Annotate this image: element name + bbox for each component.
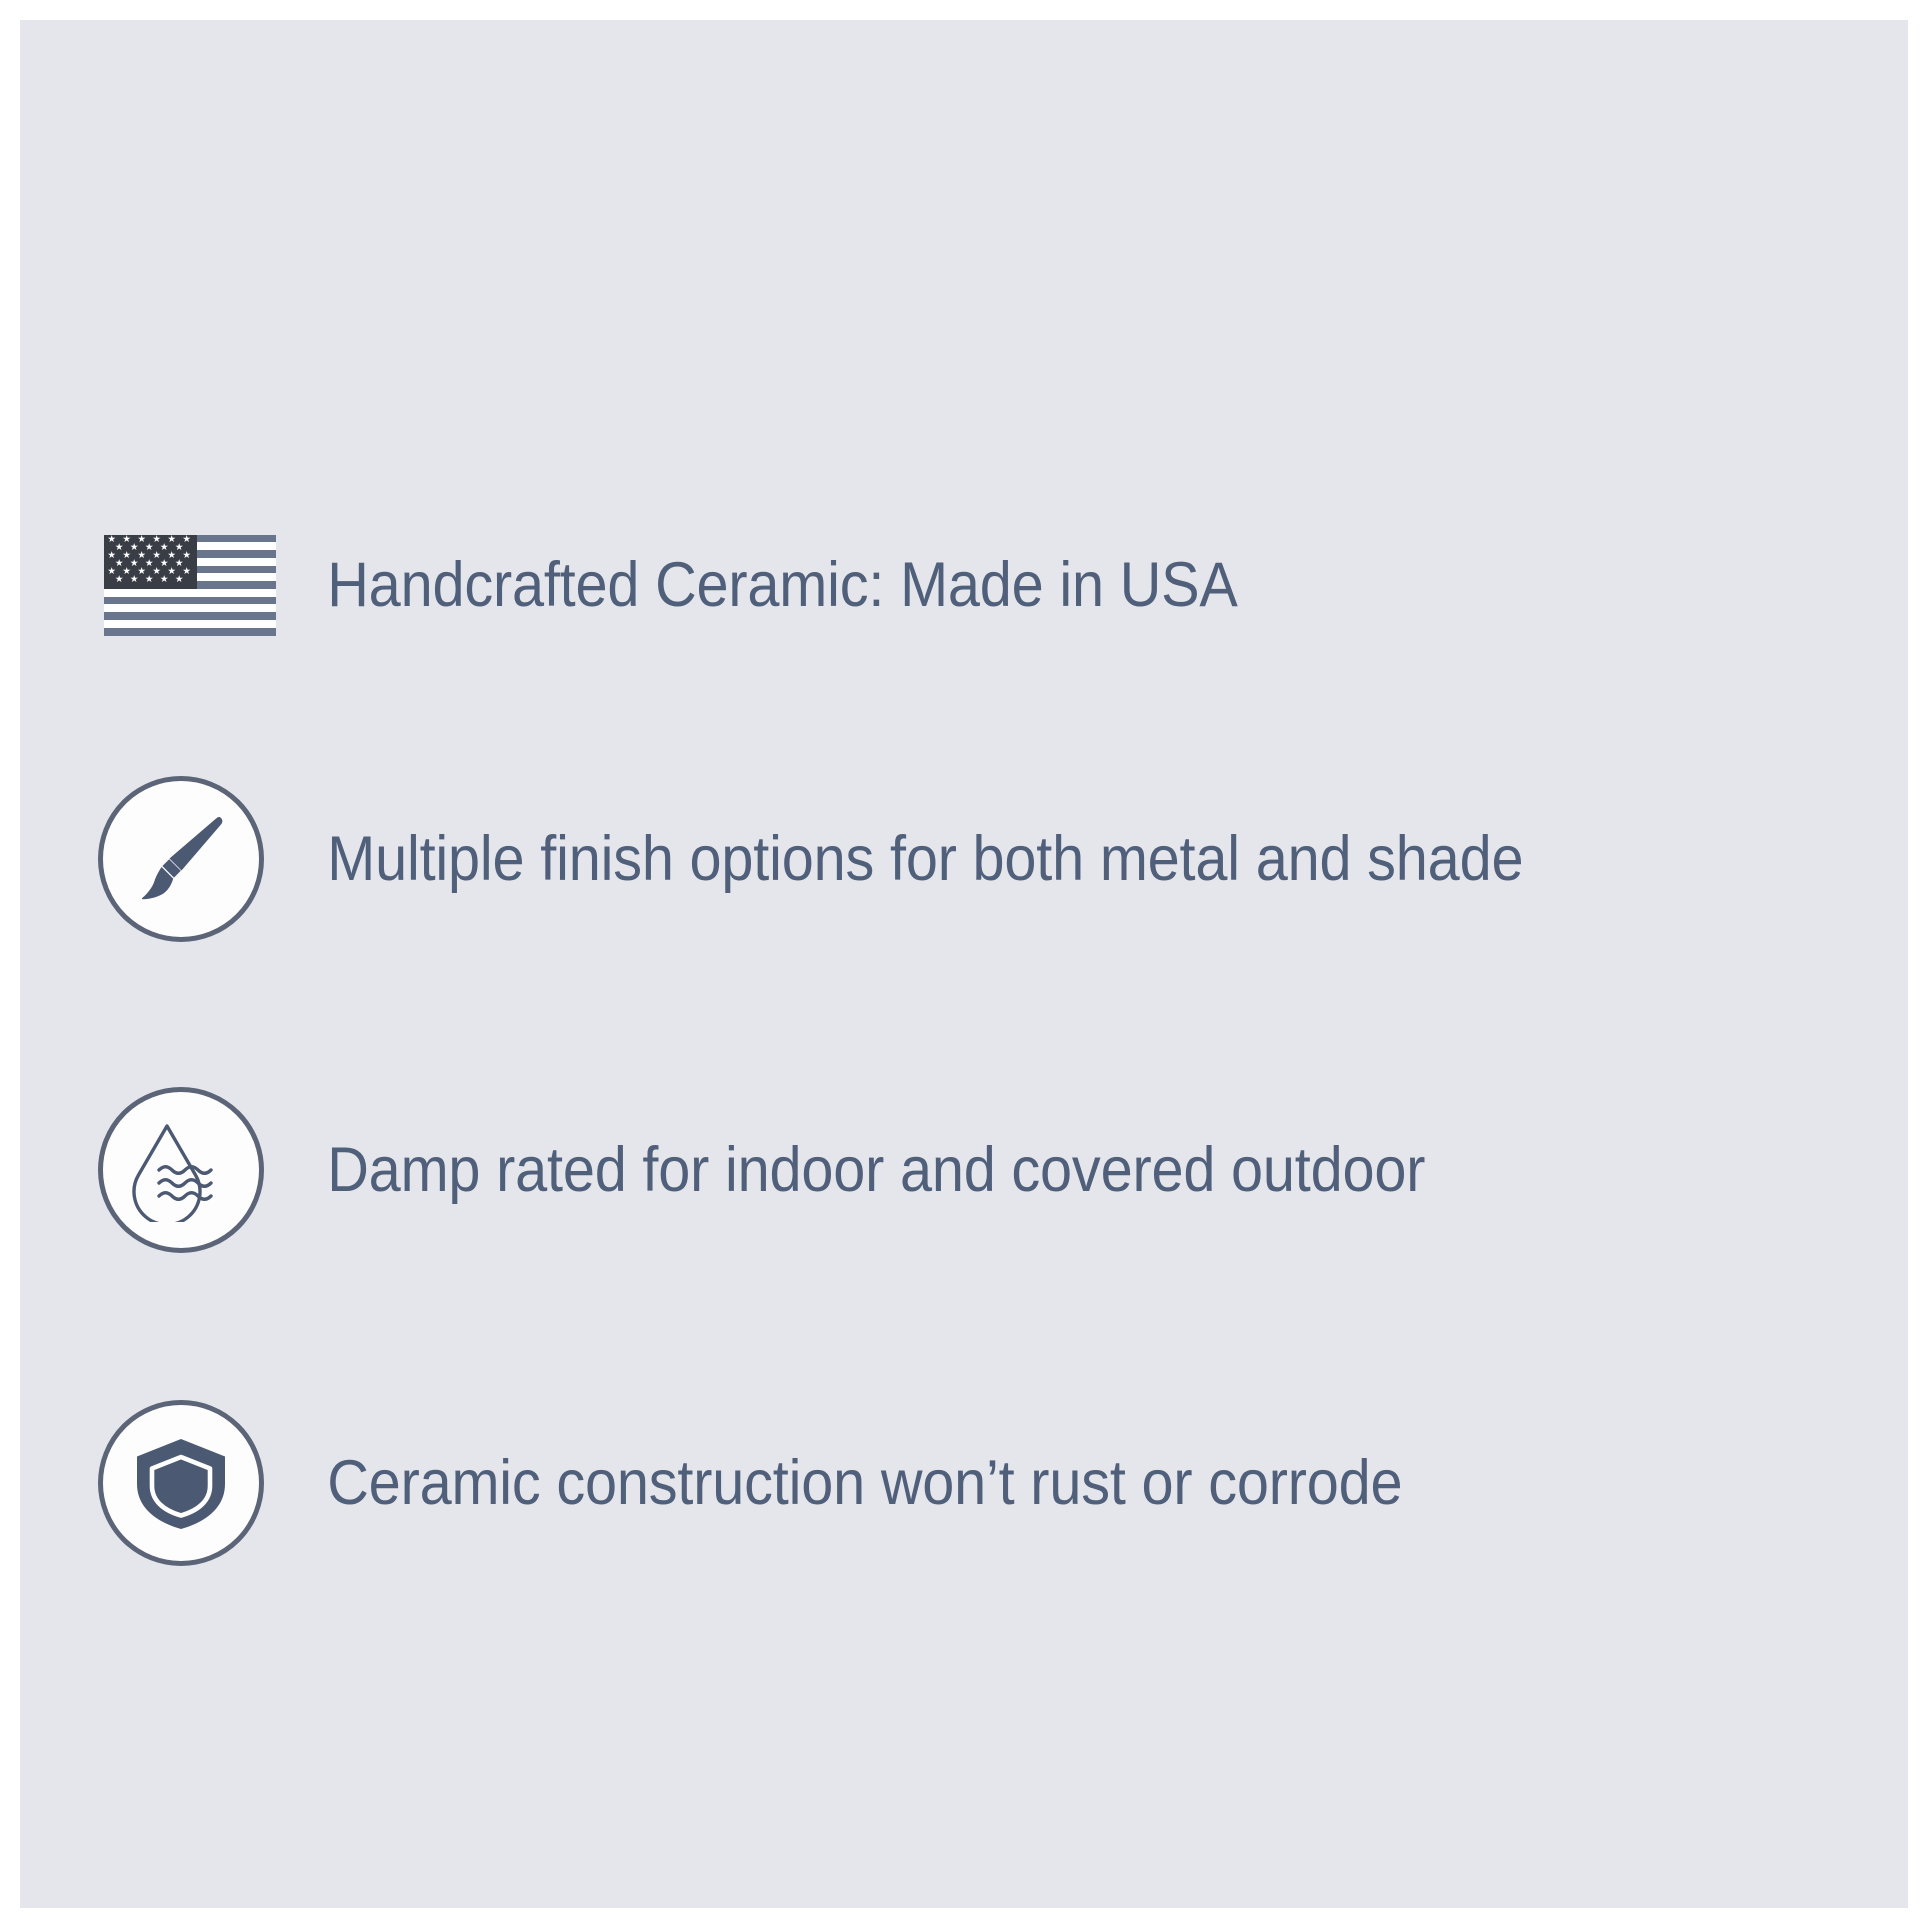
feature-row: Handcrafted Ceramic: Made in USA	[86, 515, 1876, 655]
feature-icon-slot	[86, 1390, 276, 1576]
us-flag-canton	[104, 535, 197, 589]
feature-list: Handcrafted Ceramic: Made in USA	[20, 20, 1908, 1908]
feature-row: Ceramic construction won’t rust or corro…	[86, 1390, 1876, 1576]
feature-label: Multiple finish options for both metal a…	[276, 826, 1740, 893]
us-flag-icon	[104, 535, 276, 636]
water-droplet-waves-icon-badge	[98, 1087, 264, 1253]
feature-label: Handcrafted Ceramic: Made in USA	[276, 552, 1740, 619]
shield-icon-badge	[98, 1400, 264, 1566]
feature-row: Multiple finish options for both metal a…	[86, 766, 1876, 952]
paintbrush-icon	[129, 807, 233, 911]
feature-label: Ceramic construction won’t rust or corro…	[276, 1450, 1740, 1517]
product-feature-graphic: Handcrafted Ceramic: Made in USA	[0, 0, 1928, 1928]
paintbrush-icon-badge	[98, 776, 264, 942]
feature-panel: Handcrafted Ceramic: Made in USA	[20, 20, 1908, 1908]
feature-label: Damp rated for indoor and covered outdoo…	[276, 1137, 1740, 1204]
feature-icon-slot	[86, 1077, 276, 1263]
feature-icon-slot	[86, 766, 276, 952]
feature-row: Damp rated for indoor and covered outdoo…	[86, 1077, 1876, 1263]
feature-icon-slot	[86, 515, 276, 655]
shield-icon	[130, 1432, 232, 1534]
water-droplet-waves-icon	[129, 1118, 233, 1222]
